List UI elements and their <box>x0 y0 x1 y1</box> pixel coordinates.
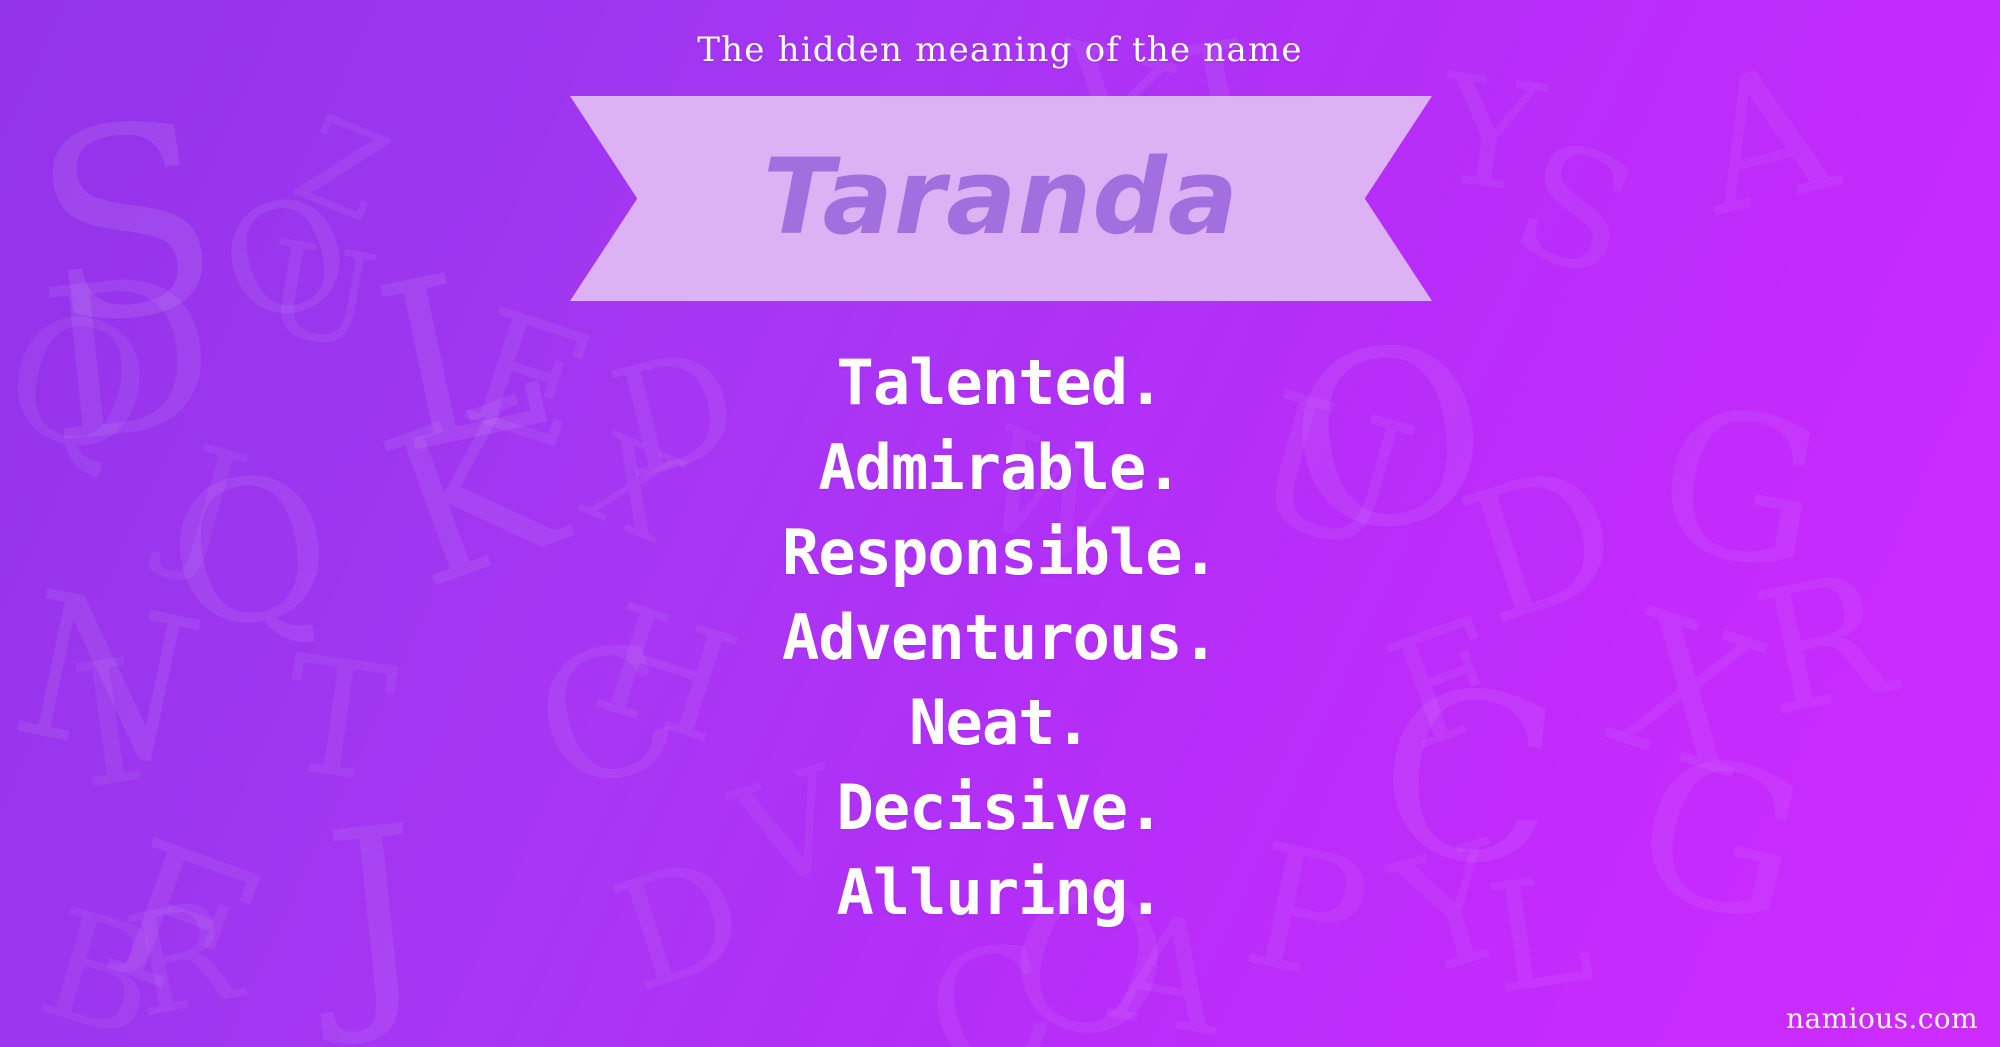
texture-letter: Z <box>281 99 403 242</box>
page-title: The hidden meaning of the name <box>0 30 2000 70</box>
trait-item: Alluring. <box>0 850 2000 935</box>
trait-item: Talented. <box>0 340 2000 425</box>
texture-letter: C <box>912 918 1069 1047</box>
texture-letter: S <box>21 84 234 366</box>
texture-letter: O <box>205 170 368 351</box>
trait-item: Adventurous. <box>0 595 2000 680</box>
site-watermark: namious.com <box>1786 1002 1978 1035</box>
name-meaning-card: SQDZOULEDXQJKNIHCTJFRBDYLSAYOUDGFCXRGYPL… <box>0 0 2000 1047</box>
trait-list: Talented. Admirable. Responsible. Advent… <box>0 340 2000 935</box>
texture-letter: Y <box>1430 54 1549 216</box>
trait-item: Admirable. <box>0 425 2000 510</box>
trait-item: Decisive. <box>0 765 2000 850</box>
trait-item: Neat. <box>0 680 2000 765</box>
name-ribbon-banner: Taranda <box>570 96 1432 301</box>
texture-letter: S <box>1496 116 1654 304</box>
name-text: Taranda <box>763 145 1239 249</box>
trait-item: Responsible. <box>0 510 2000 595</box>
